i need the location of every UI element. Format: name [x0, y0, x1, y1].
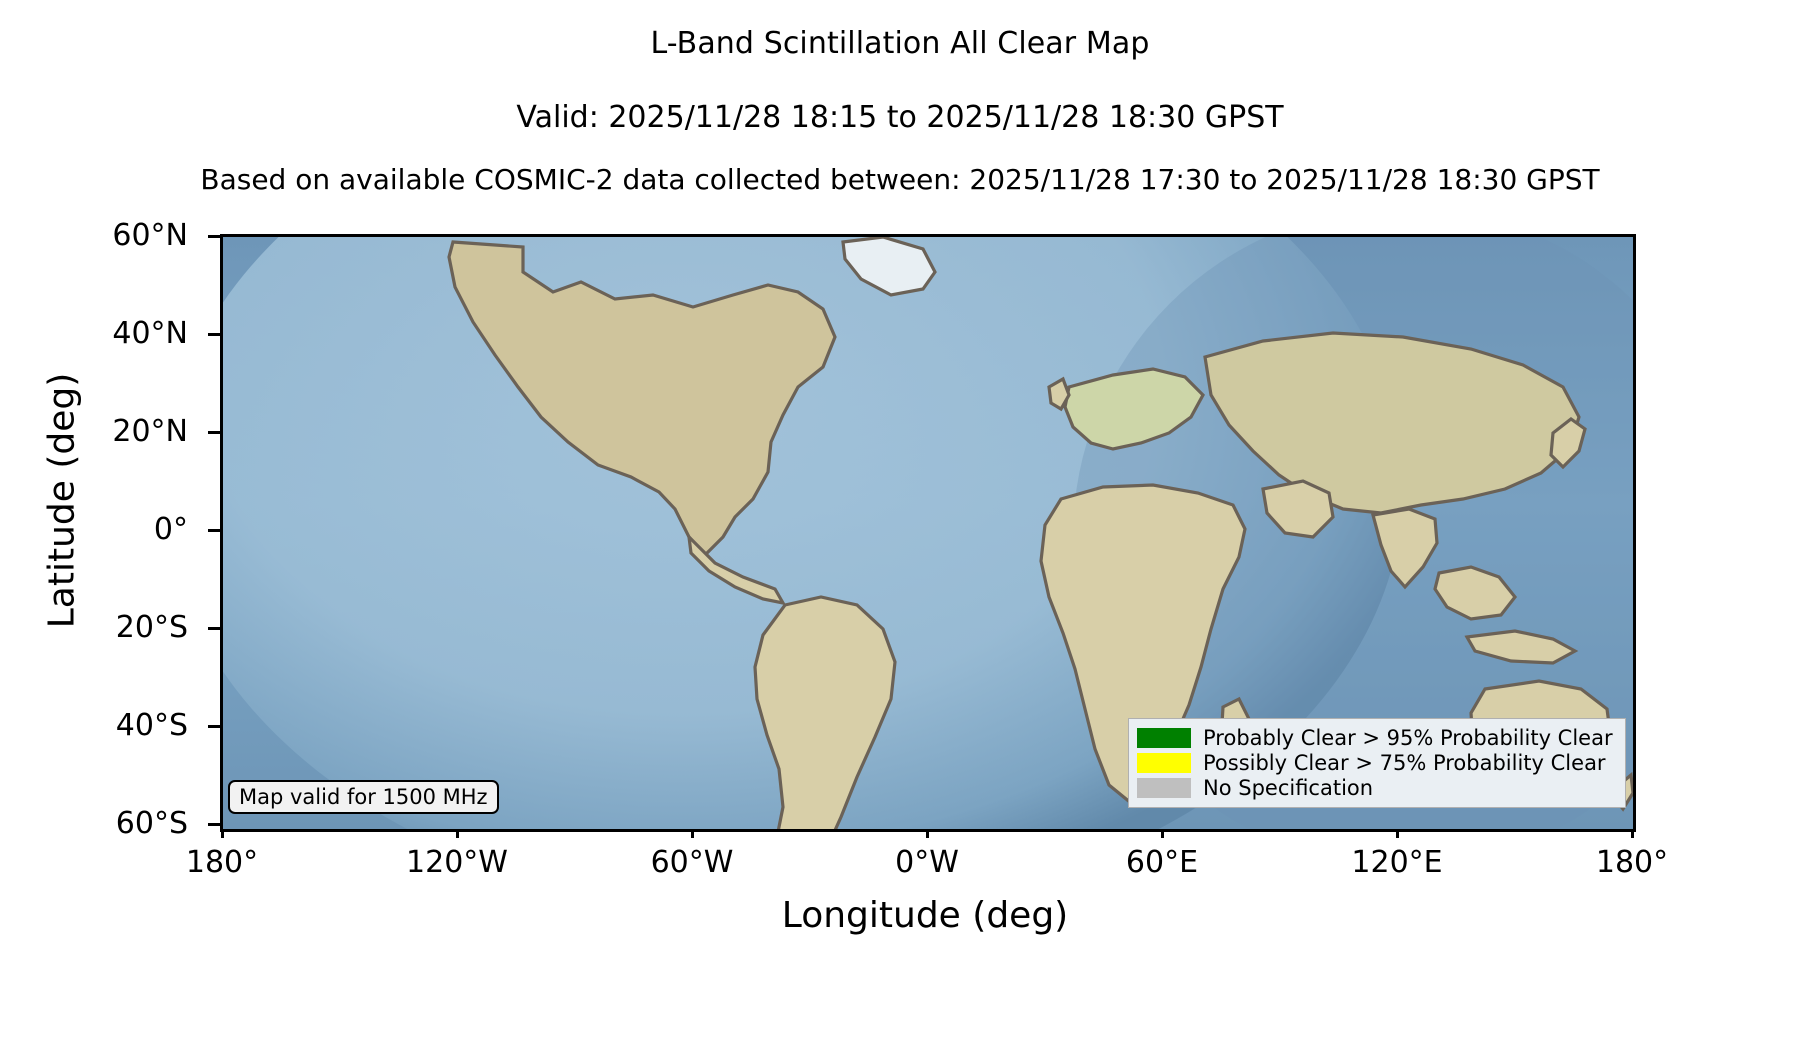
data-source-subtitle: Based on available COSMIC-2 data collect…: [0, 163, 1800, 196]
x-tick-label: 60°E: [1062, 845, 1262, 880]
legend-item: Possibly Clear > 75% Probability Clear: [1137, 751, 1617, 775]
y-tick-label: 20°N: [0, 414, 188, 449]
y-tick-label: 40°N: [0, 316, 188, 351]
yellow-swatch: [1137, 753, 1191, 773]
legend-label: Possibly Clear > 75% Probability Clear: [1203, 751, 1606, 775]
y-tick-label: 60°N: [0, 218, 188, 253]
x-tick-label: 60°W: [592, 845, 792, 880]
validity-subtitle: Valid: 2025/11/28 18:15 to 2025/11/28 18…: [0, 100, 1800, 135]
x-tick-label: 0°W: [827, 845, 1027, 880]
x-axis-label: Longitude (deg): [220, 895, 1630, 936]
legend-box: Probably Clear > 95% Probability Clear P…: [1128, 718, 1626, 808]
page-title: L-Band Scintillation All Clear Map: [0, 26, 1800, 61]
y-tick-mark: [208, 627, 220, 630]
y-tick-label: 40°S: [0, 708, 188, 743]
y-tick-mark: [208, 725, 220, 728]
y-tick-mark: [208, 235, 220, 238]
legend-label: Probably Clear > 95% Probability Clear: [1203, 726, 1613, 750]
y-tick-mark: [208, 431, 220, 434]
legend-item: Probably Clear > 95% Probability Clear: [1137, 726, 1617, 750]
x-tick-label: 180°: [122, 845, 322, 880]
green-swatch: [1137, 728, 1191, 748]
frequency-note-box: Map valid for 1500 MHz: [228, 780, 499, 814]
gray-swatch: [1137, 778, 1191, 798]
y-tick-label: 20°S: [0, 610, 188, 645]
figure-canvas: L-Band Scintillation All Clear Map Valid…: [0, 0, 1800, 1050]
legend-label: No Specification: [1203, 776, 1373, 800]
y-tick-mark: [208, 823, 220, 826]
x-tick-label: 120°E: [1297, 845, 1497, 880]
y-axis-label: Latitude (deg): [42, 221, 83, 781]
x-tick-label: 120°W: [357, 845, 557, 880]
y-tick-mark: [208, 529, 220, 532]
legend-item: No Specification: [1137, 776, 1617, 800]
y-tick-label: 0°: [0, 512, 188, 547]
x-tick-label: 180°: [1532, 845, 1732, 880]
y-tick-mark: [208, 333, 220, 336]
y-tick-label: 60°S: [0, 806, 188, 841]
